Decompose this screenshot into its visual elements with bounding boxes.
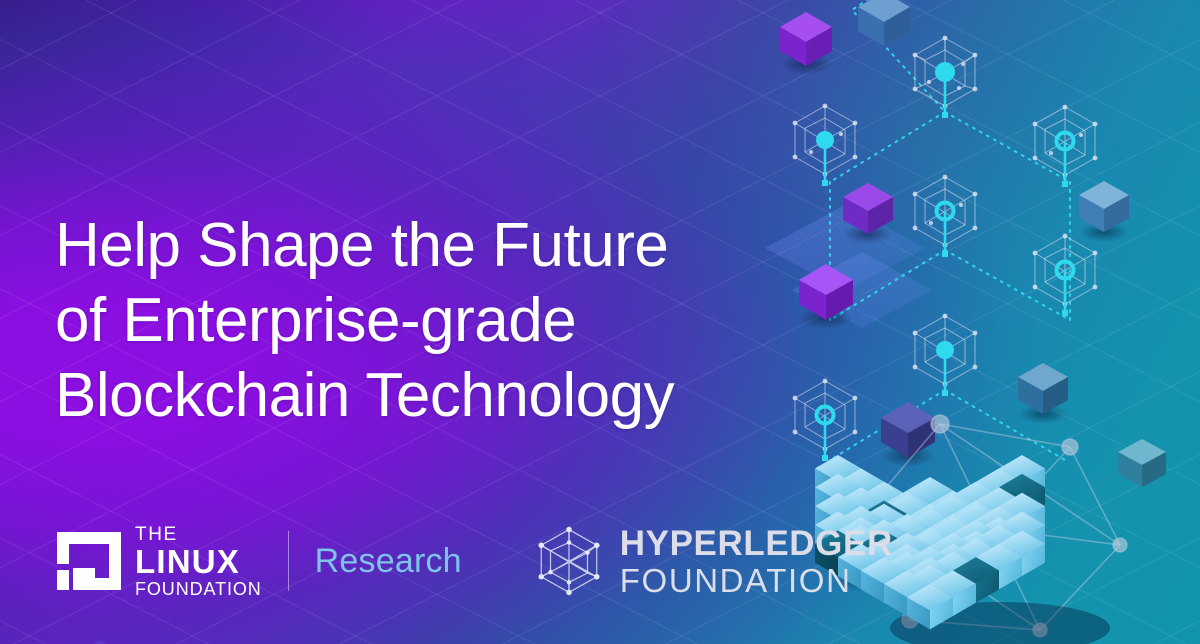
logo-bar: THE LINUX FOUNDATION Research: [55, 518, 893, 604]
hyperledger-foundation-logo[interactable]: HYPERLEDGER FOUNDATION: [532, 524, 893, 598]
linux-foundation-wordmark: THE LINUX FOUNDATION: [135, 525, 262, 598]
page-title: Help Shape the Future of Enterprise-grad…: [55, 208, 674, 433]
hyperledger-foundation-text: FOUNDATION: [620, 564, 893, 597]
hyperledger-wordmark: HYPERLEDGER FOUNDATION: [620, 526, 893, 597]
linux-foundation-logo[interactable]: THE LINUX FOUNDATION: [55, 525, 262, 598]
hyperledger-text: HYPERLEDGER: [620, 526, 893, 561]
lf-the-text: THE: [135, 525, 262, 544]
logo-divider: [288, 531, 289, 591]
research-label: Research: [315, 542, 462, 581]
lf-foundation-text: FOUNDATION: [135, 580, 262, 598]
lf-linux-text: LINUX: [135, 545, 262, 578]
promo-banner: Help Shape the Future of Enterprise-grad…: [0, 0, 1200, 644]
linux-foundation-mark: [55, 530, 123, 592]
hyperledger-polyhedron-mark: [532, 524, 606, 598]
